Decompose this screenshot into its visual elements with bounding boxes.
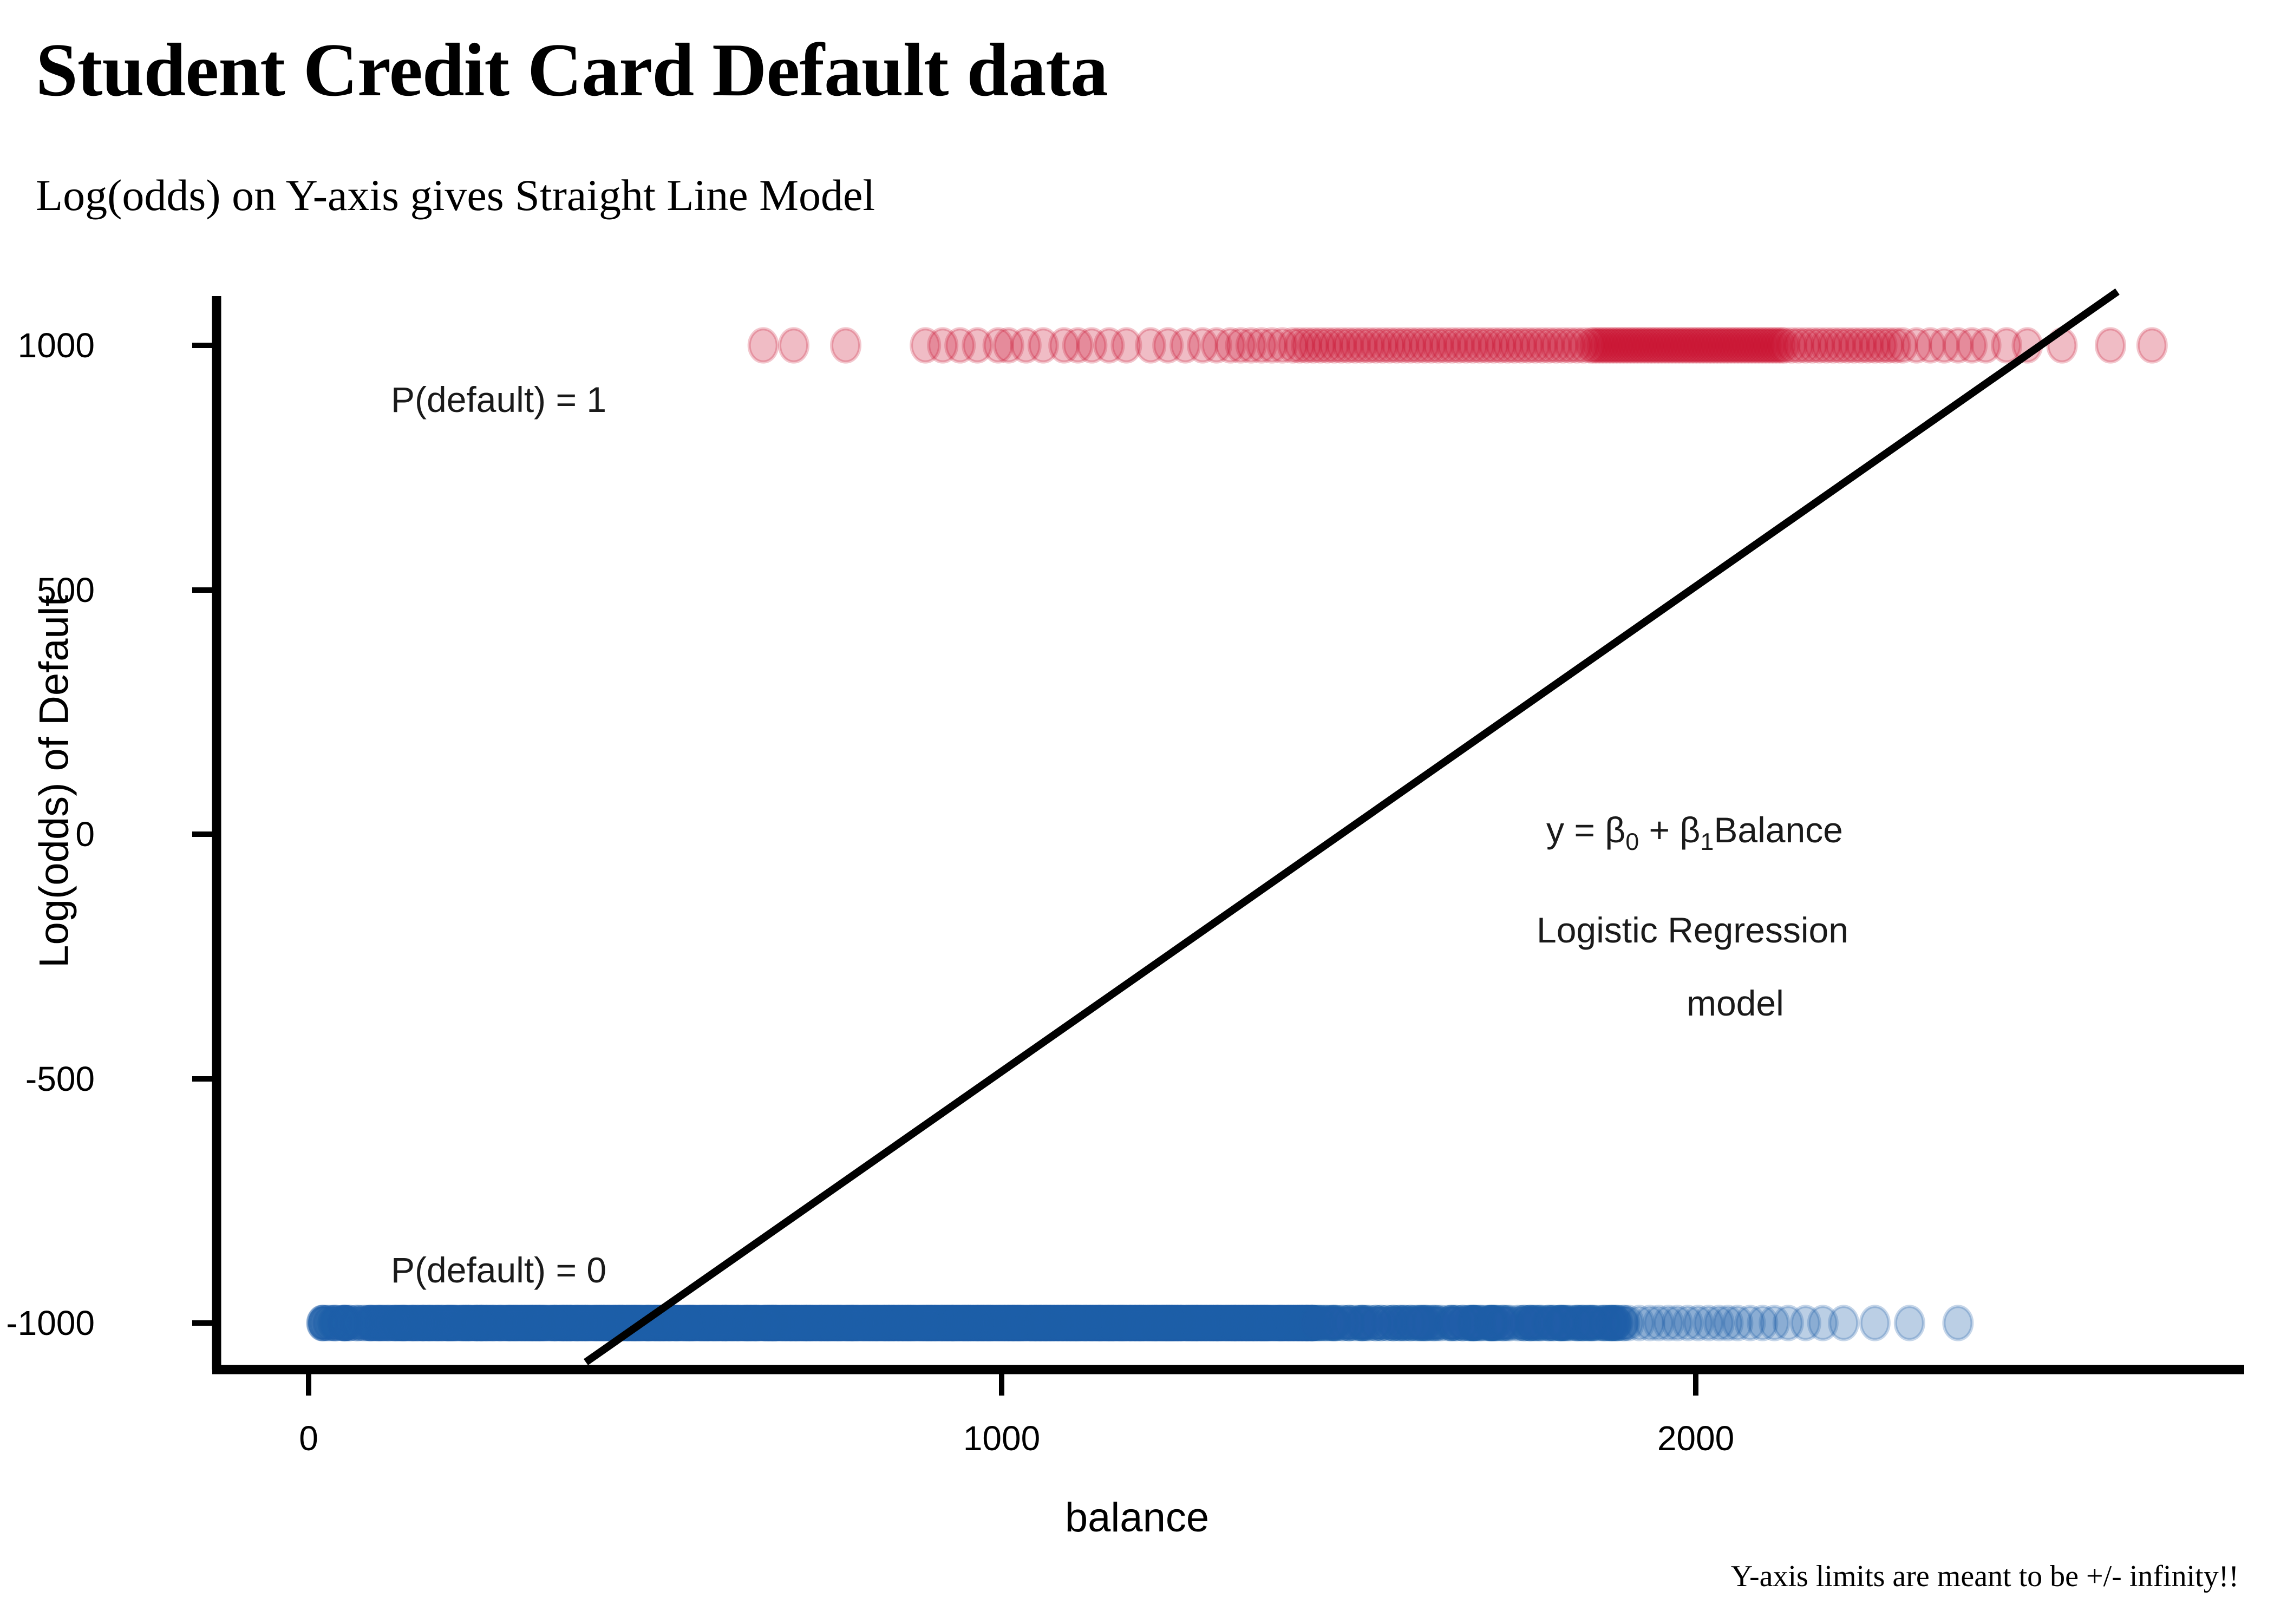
fit-line (586, 292, 2118, 1363)
data-point (507, 1306, 535, 1339)
data-point (943, 1306, 971, 1339)
data-point (1448, 1306, 1476, 1339)
data-point (590, 1306, 618, 1339)
data-point (1521, 1306, 1550, 1339)
data-point (832, 329, 860, 362)
data-point (742, 1306, 770, 1339)
data-point (1185, 1306, 1213, 1339)
data-point (792, 1306, 820, 1339)
data-point (329, 1306, 357, 1339)
data-point (780, 329, 808, 362)
data-point (1407, 1306, 1435, 1339)
data-point (1489, 1306, 1517, 1339)
scatter-series-default-no (308, 1306, 1972, 1339)
data-point (1129, 1306, 1158, 1339)
scatter-series-default-yes (749, 329, 2166, 362)
data-point (1896, 1306, 1924, 1339)
data-point (901, 1306, 929, 1339)
data-point (1354, 1306, 1382, 1339)
data-point (390, 1306, 419, 1339)
data-point (543, 1306, 571, 1339)
plot-area (0, 0, 2274, 1624)
data-point (1062, 1306, 1090, 1339)
data-point (1944, 1306, 1972, 1339)
data-point (419, 1306, 447, 1339)
data-point (1000, 1306, 1028, 1339)
data-point (1576, 1306, 1604, 1339)
data-point (1861, 1306, 1889, 1339)
data-point (1027, 1306, 1055, 1339)
data-point (2096, 329, 2125, 362)
chart-canvas: Student Credit Card Default data Log(odd… (0, 0, 2274, 1624)
data-point (749, 329, 777, 362)
axis-lines (212, 296, 2244, 1370)
data-point (445, 1306, 473, 1339)
data-point (2138, 329, 2166, 362)
data-point (1221, 1306, 1249, 1339)
data-point (676, 1306, 704, 1339)
data-point (1247, 1306, 1276, 1339)
data-point (1829, 1306, 1858, 1339)
data-point (1317, 1306, 1345, 1339)
